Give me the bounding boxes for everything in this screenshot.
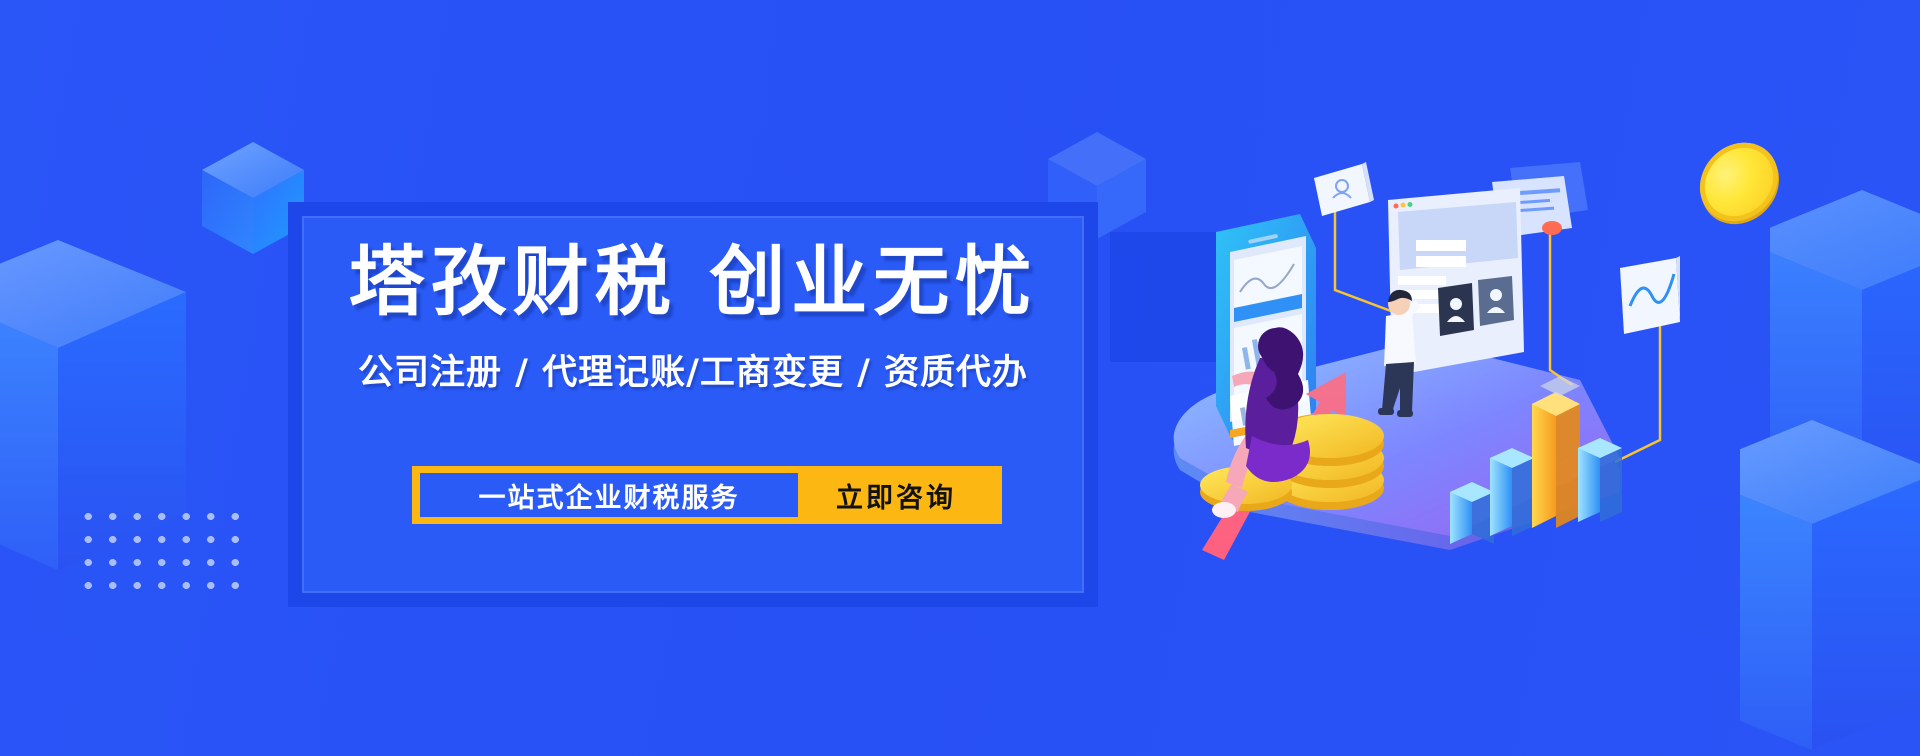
headline-content-box: 塔孜财税 创业无忧 公司注册 / 代理记账/工商变更 / 资质代办 一站式企业财…: [288, 202, 1098, 607]
isometric-column-left: [0, 240, 190, 570]
cta-tag-label: 一站式企业财税服务: [420, 473, 798, 517]
promo-banner: 塔孜财税 创业无忧 公司注册 / 代理记账/工商变更 / 资质代办 一站式企业财…: [0, 0, 1920, 756]
isometric-column-right-top: [1770, 190, 1920, 510]
page-title: 塔孜财税 创业无忧: [302, 244, 1084, 320]
service-list-subtitle: 公司注册 / 代理记账/工商变更 / 资质代办: [302, 356, 1084, 391]
cta-bar[interactable]: 一站式企业财税服务 立即咨询: [412, 466, 1002, 524]
gold-coin-icon-top-right: [1689, 129, 1788, 235]
dot-grid-decoration: [74, 503, 249, 589]
floating-card-contact: [1314, 162, 1374, 216]
isometric-column-right-bottom: [1740, 420, 1920, 750]
consult-now-button[interactable]: 立即咨询: [798, 476, 994, 515]
floating-card-linechart: [1620, 256, 1680, 334]
isometric-fintech-illustration: [1120, 140, 1680, 570]
